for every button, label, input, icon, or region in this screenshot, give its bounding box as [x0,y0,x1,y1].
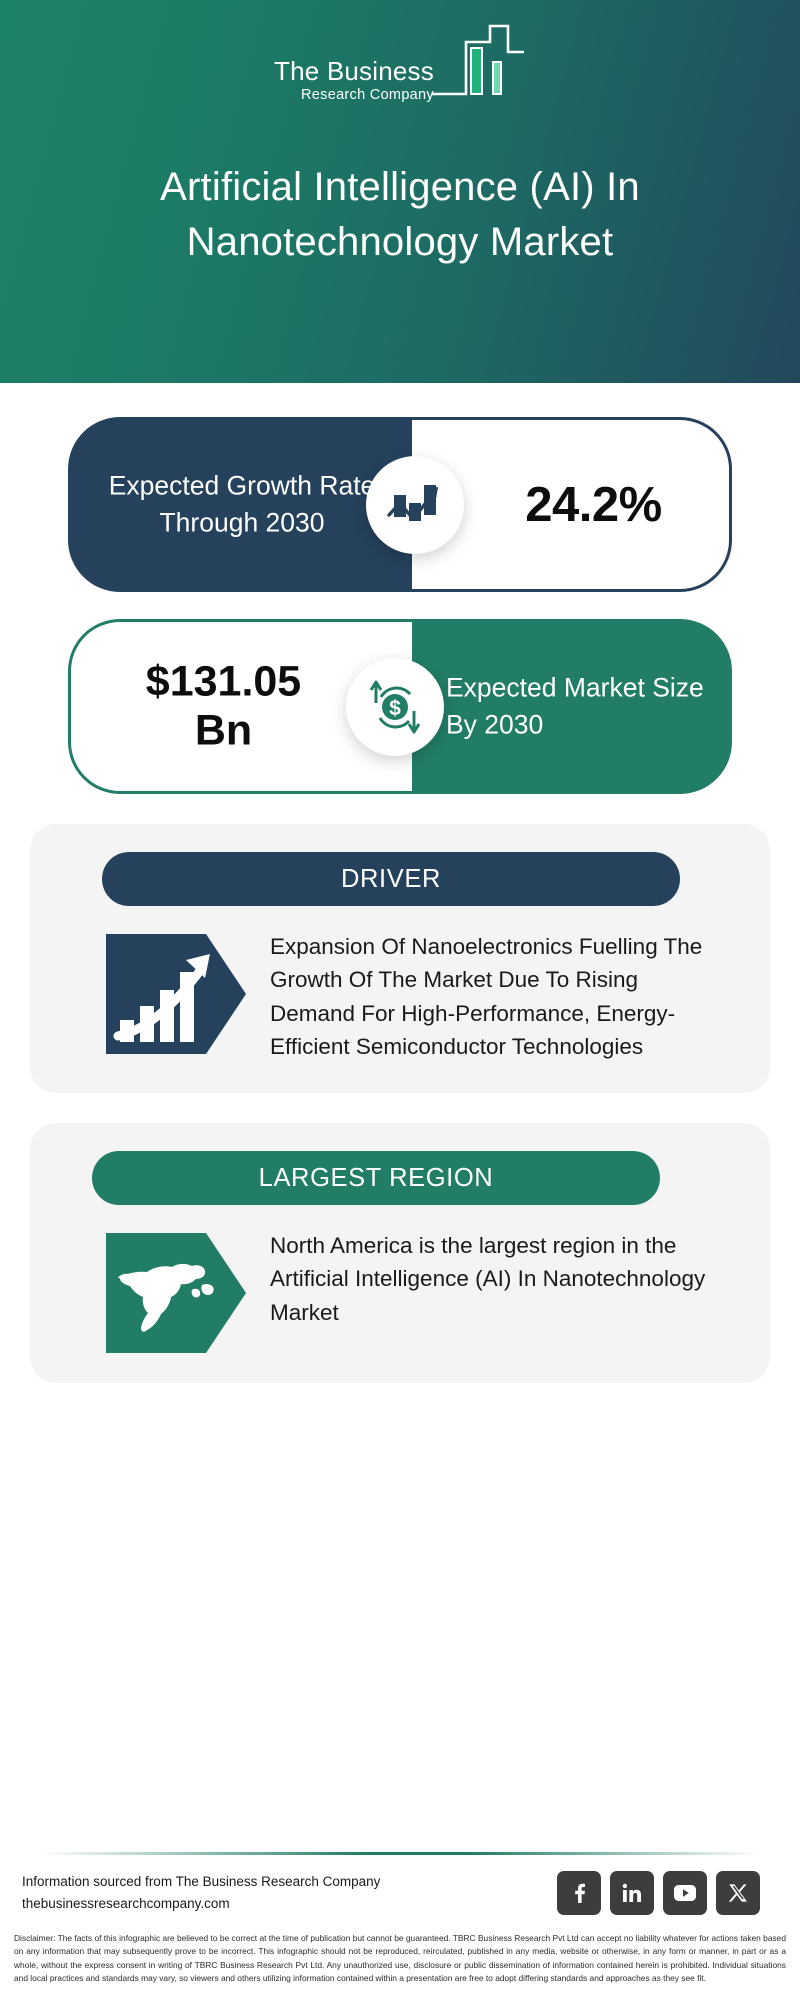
social-links [557,1871,778,1915]
logo-title-line1: The Business [274,58,434,85]
footer: Information sourced from The Business Re… [0,1852,800,2000]
infographic-page: The Business Research Company Artificial… [0,0,800,2000]
market-size-label: Expected Market Size By 2030 [446,669,732,744]
disclaimer-text: Disclaimer: The facts of this infographi… [0,1926,800,2000]
logo-title-line2: Research Company [274,86,434,105]
dollar-cycle-icon: $ [346,658,444,756]
facebook-icon[interactable] [557,1871,601,1915]
driver-text: Expansion Of Nanoelectronics Fuelling Th… [246,930,770,1063]
header-banner: The Business Research Company Artificial… [0,0,800,383]
linkedin-icon[interactable] [610,1871,654,1915]
largest-region-text: North America is the largest region in t… [246,1229,770,1329]
growth-bars-arrow-icon [106,934,246,1054]
driver-heading: DRIVER [102,852,680,906]
market-size-label-panel: Expected Market Size By 2030 [412,619,732,794]
growth-rate-label-panel: Expected Growth Rate Through 2030 [68,417,412,592]
market-size-value-line2: Bn [195,707,252,755]
driver-panel: DRIVER Expansion Of Nanoelectronics Fuel… [30,824,770,1093]
largest-region-panel: LARGEST REGION North America is the larg… [30,1123,770,1383]
bar-chart-logo-mark [430,24,526,105]
footer-source: Information sourced from The Business Re… [22,1871,380,1916]
footer-website-link[interactable]: thebusinessresearchcompany.com [22,1893,380,1915]
company-logo: The Business Research Company [0,24,800,107]
youtube-icon[interactable] [663,1871,707,1915]
market-size-value-line1: $131.05 [146,657,301,705]
expected-market-size-card: $131.05 Bn Expected Market Size By 2030 … [50,619,750,794]
page-title: Artificial Intelligence (AI) In Nanotech… [0,160,800,270]
growth-rate-label: Expected Growth Rate Through 2030 [68,467,386,542]
growth-chart-arrow-icon [366,456,464,554]
largest-region-heading: LARGEST REGION [92,1151,660,1205]
expected-growth-rate-card: Expected Growth Rate Through 2030 24.2% [50,417,750,592]
svg-text:$: $ [389,697,401,720]
north-america-map-icon [106,1233,246,1353]
x-twitter-icon[interactable] [716,1871,760,1915]
footer-source-line1: Information sourced from The Business Re… [22,1871,380,1893]
